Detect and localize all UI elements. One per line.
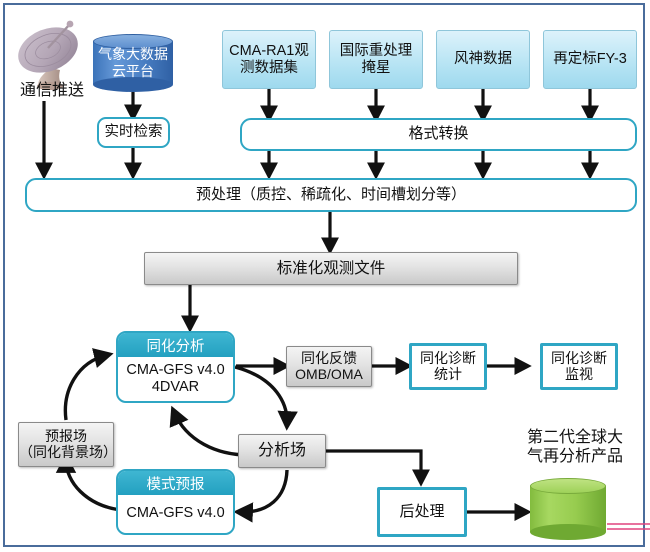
assimilation-monitor-box[interactable]: 同化诊断 监视 — [540, 343, 618, 390]
monitor-line1: 同化诊断 — [551, 351, 607, 367]
format-conversion-box[interactable]: 格式转换 — [240, 118, 637, 151]
product-database-cylinder — [530, 478, 606, 540]
post-process-box[interactable]: 后处理 — [377, 487, 467, 537]
background-field-line2: （同化背景场） — [19, 445, 113, 461]
assimilation-feedback-box[interactable]: 同化反馈 OMB/OMA — [286, 346, 372, 387]
fengshen-line1: 风神数据 — [454, 51, 512, 67]
model-forecast-body: CMA-GFS v4.0 — [118, 495, 233, 533]
cloud-database-cylinder: 气象大数据 云平台 — [93, 34, 173, 92]
background-field-line1: 预报场 — [19, 429, 113, 445]
realtime-retrieval-box[interactable]: 实时检索 — [97, 117, 170, 148]
preprocess-label: 预处理（质控、稀疏化、时间槽划分等） — [196, 187, 466, 204]
source-box-fy3[interactable]: 再定标FY-3 — [543, 30, 637, 89]
standard-obs-file-box[interactable]: 标准化观测文件 — [144, 252, 518, 285]
preprocess-box[interactable]: 预处理（质控、稀疏化、时间槽划分等） — [25, 178, 637, 212]
assimilation-analysis-card[interactable]: 同化分析 CMA-GFS v4.0 4DVAR — [116, 331, 235, 403]
product-label: 第二代全球大 气再分析产品 — [505, 428, 645, 466]
feedback-line1: 同化反馈 — [295, 351, 363, 367]
green-cylinder-bottom — [530, 524, 606, 540]
product-line1: 第二代全球大 — [505, 428, 645, 447]
statistics-line2: 统计 — [420, 367, 476, 383]
satellite-label: 通信推送 — [6, 82, 98, 100]
product-line2: 气再分析产品 — [505, 447, 645, 466]
background-field-box[interactable]: 预报场 （同化背景场） — [18, 422, 114, 467]
cma-ra1-line2: 测数据集 — [229, 60, 309, 76]
realtime-retrieval-label: 实时检索 — [105, 124, 163, 140]
analysis-field-label: 分析场 — [258, 442, 306, 460]
standard-obs-file-label: 标准化观测文件 — [277, 260, 386, 277]
cloud-db-line1: 气象大数据 — [98, 46, 168, 63]
source-box-fengshen[interactable]: 风神数据 — [436, 30, 530, 89]
format-conversion-label: 格式转换 — [408, 126, 468, 143]
feedback-line2: OMB/OMA — [295, 367, 363, 383]
assimilation-header: 同化分析 — [118, 333, 233, 357]
cloud-db-line2: 云平台 — [112, 63, 154, 80]
model-forecast-line1: CMA-GFS v4.0 — [126, 505, 224, 522]
model-forecast-header: 模式预报 — [118, 471, 233, 495]
satellite-dish-icon — [12, 18, 92, 90]
monitor-line2: 监视 — [551, 367, 607, 383]
assimilation-line1: CMA-GFS v4.0 — [126, 362, 224, 379]
gnss-ro-line1: 国际重处理 — [340, 43, 413, 59]
source-box-gnss-ro[interactable]: 国际重处理 掩星 — [329, 30, 423, 89]
assimilation-line2: 4DVAR — [126, 379, 224, 396]
model-forecast-card[interactable]: 模式预报 CMA-GFS v4.0 — [116, 469, 235, 535]
gnss-ro-line2: 掩星 — [340, 60, 413, 76]
assimilation-statistics-box[interactable]: 同化诊断 统计 — [409, 343, 487, 390]
statistics-line1: 同化诊断 — [420, 351, 476, 367]
analysis-field-box[interactable]: 分析场 — [238, 434, 326, 468]
cloud-database-label: 气象大数据 云平台 — [93, 34, 173, 92]
diagram-canvas: 通信推送 气象大数据 云平台 CMA-RA1观 测数据集 国际重处理 掩星 风神… — [0, 0, 650, 552]
assimilation-body: CMA-GFS v4.0 4DVAR — [118, 357, 233, 401]
source-box-cma-ra1[interactable]: CMA-RA1观 测数据集 — [222, 30, 316, 89]
cma-ra1-line1: CMA-RA1观 — [229, 43, 309, 59]
post-process-label: 后处理 — [399, 504, 444, 521]
fy3-line1: 再定标FY-3 — [553, 51, 627, 67]
green-cylinder-top — [530, 478, 606, 494]
